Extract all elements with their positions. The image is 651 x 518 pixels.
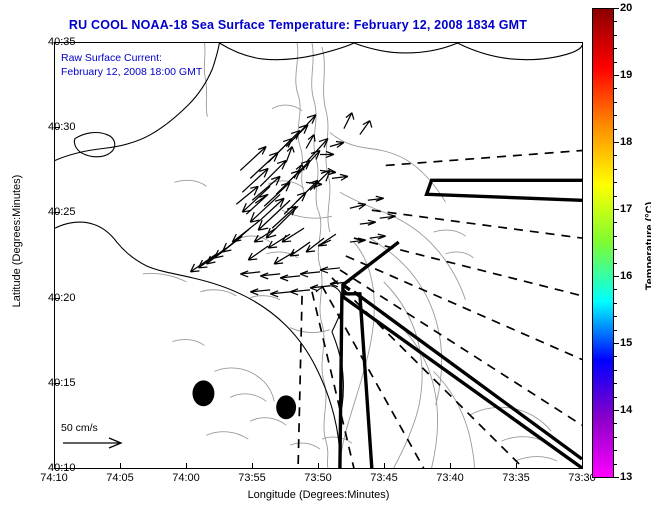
colorbar-minor-tick	[614, 276, 617, 277]
colorbar-minor-tick	[614, 464, 617, 465]
x-tick-label: 74:05	[106, 472, 134, 484]
colorbar-minor-tick	[614, 383, 617, 384]
colorbar-minor-tick	[614, 437, 617, 438]
station-marker	[192, 380, 214, 406]
colorbar-minor-tick	[614, 209, 617, 210]
colorbar-tick-label: 13	[620, 471, 632, 483]
station-markers	[192, 380, 296, 419]
colorbar-minor-tick	[614, 142, 617, 143]
colorbar-minor-tick	[614, 410, 617, 411]
colorbar-minor-tick	[614, 115, 617, 116]
colorbar-minor-tick	[614, 356, 617, 357]
colorbar-gradient	[593, 9, 613, 477]
station-marker	[276, 395, 296, 419]
colorbar-minor-tick	[614, 303, 617, 304]
x-tick-mark	[384, 463, 385, 469]
arrow-right-icon	[61, 437, 125, 449]
colorbar-minor-tick	[614, 370, 617, 371]
scale-legend-label: 50 cm/s	[61, 422, 125, 434]
x-axis-label: Longitude (Degrees:Minutes)	[54, 489, 583, 501]
vector-scale-legend: 50 cm/s	[61, 422, 125, 454]
colorbar-minor-tick	[614, 75, 617, 76]
colorbar-minor-tick	[614, 397, 617, 398]
colorbar-minor-tick	[614, 169, 617, 170]
colorbar[interactable]	[592, 8, 614, 478]
annotation-raw-surface-current: Raw Surface Current: February 12, 2008 1…	[61, 51, 202, 79]
x-tick-mark	[318, 463, 319, 469]
x-tick-label: 73:35	[502, 472, 530, 484]
annotation-line-1: Raw Surface Current:	[61, 51, 202, 65]
colorbar-minor-tick	[614, 182, 617, 183]
colorbar-minor-tick	[614, 450, 617, 451]
colorbar-minor-tick	[614, 88, 617, 89]
page-title: RU COOL NOAA-18 Sea Surface Temperature:…	[0, 18, 596, 32]
colorbar-minor-tick	[614, 21, 617, 22]
map-plot-area[interactable]: Raw Surface Current: February 12, 2008 1…	[54, 42, 583, 469]
colorbar-tick-label: 15	[620, 337, 632, 349]
colorbar-minor-tick	[614, 289, 617, 290]
colorbar-tick-label: 17	[620, 203, 632, 215]
y-axis-label: Latitude (Degrees:Minutes)	[11, 141, 23, 341]
colorbar-tick-label: 18	[620, 136, 632, 148]
annotation-line-2: February 12, 2008 18:00 GMT	[61, 65, 202, 79]
colorbar-tick-label: 20	[620, 2, 632, 14]
colorbar-label: Temperature (°C)	[644, 166, 651, 326]
x-tick-label: 73:55	[238, 472, 266, 484]
colorbar-minor-tick	[614, 102, 617, 103]
x-tick-label: 74:00	[172, 472, 200, 484]
colorbar-minor-tick	[614, 48, 617, 49]
colorbar-minor-tick	[614, 477, 617, 478]
x-tick-mark	[252, 463, 253, 469]
colorbar-minor-tick	[614, 249, 617, 250]
colorbar-minor-tick	[614, 35, 617, 36]
colorbar-minor-tick	[614, 236, 617, 237]
colorbar-minor-tick	[614, 8, 617, 9]
x-tick-mark	[120, 463, 121, 469]
colorbar-minor-tick	[614, 343, 617, 344]
x-tick-mark	[450, 463, 451, 469]
colorbar-minor-tick	[614, 423, 617, 424]
colorbar-minor-tick	[614, 196, 617, 197]
colorbar-minor-tick	[614, 62, 617, 63]
x-tick-mark	[516, 463, 517, 469]
x-tick-label: 73:40	[436, 472, 464, 484]
colorbar-minor-tick	[614, 316, 617, 317]
x-tick-label: 73:50	[304, 472, 332, 484]
colorbar-tick-label: 16	[620, 270, 632, 282]
colorbar-minor-tick	[614, 129, 617, 130]
colorbar-tick-label: 19	[620, 69, 632, 81]
colorbar-minor-tick	[614, 263, 617, 264]
x-tick-mark	[582, 463, 583, 469]
colorbar-tick-label: 14	[620, 404, 632, 416]
colorbar-minor-tick	[614, 155, 617, 156]
colorbar-minor-tick	[614, 330, 617, 331]
x-tick-label: 73:45	[370, 472, 398, 484]
x-tick-mark	[186, 463, 187, 469]
map-vector-layer	[55, 43, 582, 468]
colorbar-minor-tick	[614, 222, 617, 223]
